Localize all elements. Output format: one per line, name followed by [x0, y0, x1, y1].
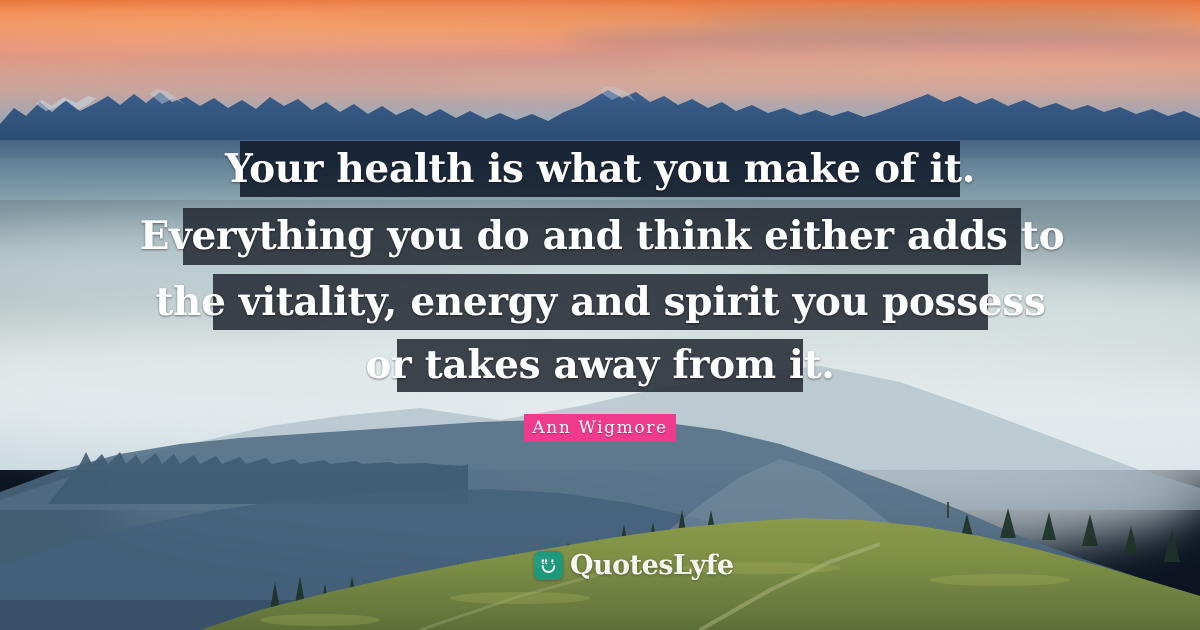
quote-line: Your health is what you make of it. [240, 141, 960, 197]
quote-line: Everything you do and think either adds … [183, 208, 1021, 265]
quote-smiley-icon [534, 551, 563, 580]
site-logo[interactable]: QuotesLyfe [534, 551, 734, 580]
cloud-streak [700, 12, 1200, 22]
author-badge: Ann Wigmore [524, 414, 676, 442]
quote-card: Your health is what you make of it. Ever… [0, 0, 1200, 630]
quote-line: or takes away from it. [397, 339, 803, 392]
quote-line: the vitality, energy and spirit you poss… [213, 274, 988, 330]
site-logo-text: QuotesLyfe [570, 552, 734, 579]
